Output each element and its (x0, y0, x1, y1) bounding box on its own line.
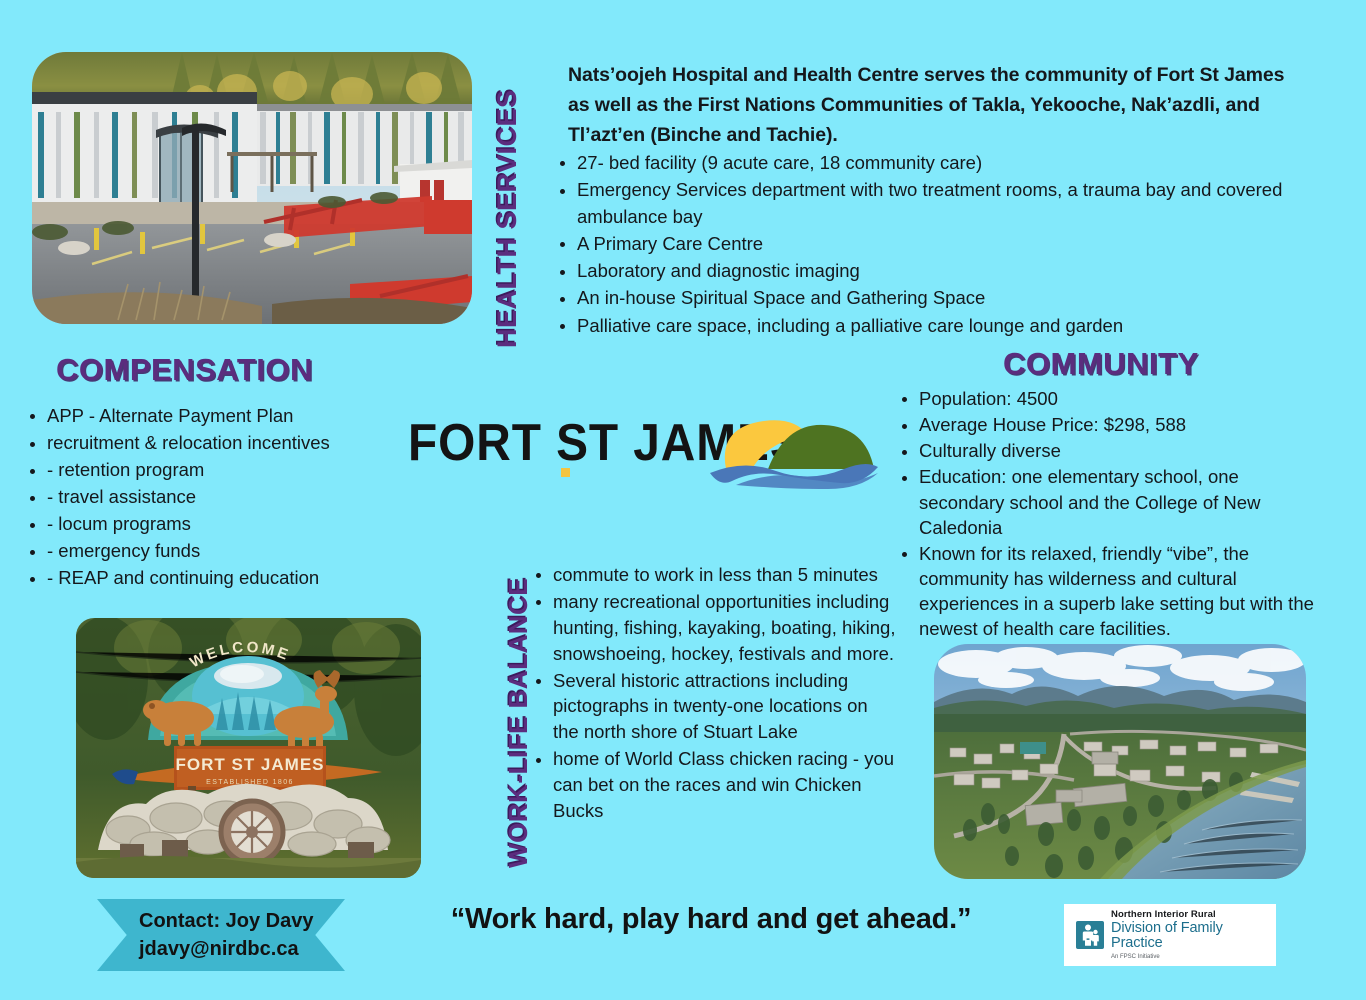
compensation-item: - locum programs (26, 511, 426, 537)
person-glyph (1076, 921, 1104, 949)
community-item: Population: 4500 (898, 386, 1326, 411)
health-services-item: Palliative care space, including a palli… (556, 313, 1296, 339)
compensation-item: - REAP and continuing education (26, 565, 426, 591)
community-list: Population: 4500Average House Price: $29… (898, 386, 1326, 643)
health-services-item: A Primary Care Centre (556, 231, 1296, 257)
logo-accent-dot (561, 468, 570, 477)
svg-text:FORT ST JAMES: FORT ST JAMES (175, 755, 324, 774)
contact-banner: Contact: Joy Davy jdavy@nirdbc.ca (97, 899, 345, 971)
poster-canvas: HEALTH SERVICES Nats’oojeh Hospital and … (0, 0, 1366, 1000)
aerial-town-art (934, 644, 1306, 879)
hospital-photo (32, 52, 472, 324)
nird-logo-text: Northern Interior Rural Division of Fami… (1111, 910, 1276, 960)
nird-line-3: An FPSC Initiative (1111, 954, 1276, 960)
health-services-item: An in-house Spiritual Space and Gatherin… (556, 285, 1296, 311)
welcome-sign-art: WELCOME (76, 618, 421, 878)
compensation-item: - emergency funds (26, 538, 426, 564)
welcome-sign-photo: WELCOME (76, 618, 421, 878)
nird-logo-card: Northern Interior Rural Division of Fami… (1064, 904, 1276, 966)
community-heading: COMMUNITY (1003, 346, 1199, 382)
work-life-balance-list: commute to work in less than 5 minutesma… (532, 562, 897, 825)
compensation-list: APP - Alternate Payment Planrecruitment … (26, 403, 426, 593)
health-services-item: Laboratory and diagnostic imaging (556, 258, 1296, 284)
compensation-item: - retention program (26, 457, 426, 483)
health-services-intro: Nats’oojeh Hospital and Health Centre se… (568, 60, 1296, 151)
fort-st-james-logo: FORT ST JAMES (408, 405, 878, 493)
tagline-quote: “Work hard, play hard and get ahead.” (446, 903, 976, 936)
compensation-item: APP - Alternate Payment Plan (26, 403, 426, 429)
contact-name: Contact: Joy Davy (139, 907, 345, 935)
community-item: Education: one elementary school, one se… (898, 464, 1326, 539)
health-services-item: 27- bed facility (9 acute care, 18 commu… (556, 150, 1296, 176)
community-item: Average House Price: $298, 588 (898, 412, 1326, 437)
work-life-balance-item: Several historic attractions including p… (532, 668, 897, 746)
work-life-balance-item: home of World Class chicken racing - you… (532, 746, 897, 824)
community-item: Known for its relaxed, friendly “vibe”, … (898, 541, 1326, 642)
nird-line-2: Division of Family Practice (1111, 921, 1276, 951)
fort-st-james-emblem (708, 407, 880, 489)
work-life-balance-item: many recreational opportunities includin… (532, 589, 897, 667)
work-life-balance-label: WORK-LIFE BALANCE (503, 556, 534, 868)
health-services-item: Emergency Services department with two t… (556, 177, 1296, 230)
hospital-photo-art (32, 52, 472, 324)
health-services-list: 27- bed facility (9 acute care, 18 commu… (556, 150, 1296, 340)
work-life-balance-item: commute to work in less than 5 minutes (532, 562, 897, 588)
division-person-icon (1076, 921, 1104, 949)
compensation-item: - travel assistance (26, 484, 426, 510)
compensation-heading: COMPENSATION (56, 352, 313, 388)
health-services-label: HEALTH SERVICES (492, 58, 523, 348)
community-item: Culturally diverse (898, 438, 1326, 463)
contact-email[interactable]: jdavy@nirdbc.ca (139, 935, 345, 963)
nird-line-1: Northern Interior Rural (1111, 910, 1276, 920)
aerial-town-photo (934, 644, 1306, 879)
compensation-item: recruitment & relocation incentives (26, 430, 426, 456)
